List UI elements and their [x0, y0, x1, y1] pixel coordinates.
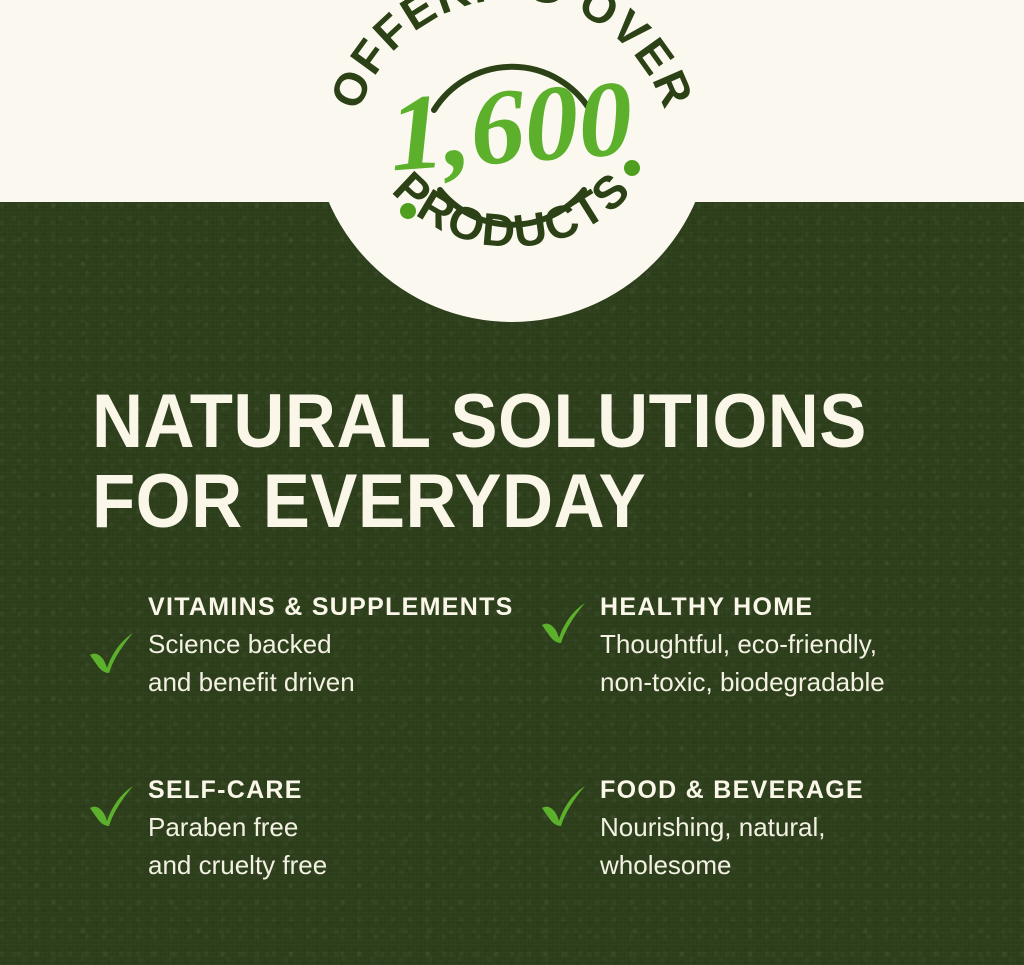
headline-line-2: FOR EVERYDAY [92, 462, 910, 542]
feature-desc-2: Paraben free and cruelty free [148, 808, 538, 884]
check-icon-wrapper-2 [86, 775, 148, 829]
feature-desc-1: Thoughtful, eco-friendly, non-toxic, bio… [600, 625, 986, 701]
feature-body-2: SELF-CARE Paraben free and cruelty free [148, 775, 538, 884]
offering-over-badge: OFFERING OVER PRODUCTS 1,600 [312, 0, 712, 322]
check-icon [538, 598, 590, 646]
check-icon [86, 628, 138, 676]
feature-item-self-care: SELF-CARE Paraben free and cruelty free [86, 775, 538, 884]
feature-item-healthy-home: HEALTHY HOME Thoughtful, eco-friendly, n… [538, 592, 986, 701]
feature-desc-0: Science backed and benefit driven [148, 625, 538, 701]
feature-title-2: SELF-CARE [148, 775, 538, 806]
feature-desc-line: Paraben free [148, 808, 538, 846]
feature-title-1: HEALTHY HOME [600, 592, 986, 623]
check-icon-wrapper-0 [86, 592, 148, 676]
feature-desc-line: wholesome [600, 846, 986, 884]
feature-desc-line: Science backed [148, 625, 538, 663]
feature-desc-line: and benefit driven [148, 663, 538, 701]
feature-title-0: VITAMINS & SUPPLEMENTS [148, 592, 538, 623]
page-title: NATURAL SOLUTIONS FOR EVERYDAY [92, 382, 910, 542]
headline-line-1: NATURAL SOLUTIONS [92, 382, 910, 462]
feature-title-3: FOOD & BEVERAGE [600, 775, 986, 806]
check-icon-wrapper-1 [538, 592, 600, 646]
feature-body-3: FOOD & BEVERAGE Nourishing, natural, who… [600, 775, 986, 884]
promo-poster: OFFERING OVER PRODUCTS 1,600 NATURAL SOL… [0, 0, 1024, 965]
check-icon [86, 781, 138, 829]
feature-list: VITAMINS & SUPPLEMENTS Science backed an… [86, 592, 986, 884]
feature-body-0: VITAMINS & SUPPLEMENTS Science backed an… [148, 592, 538, 701]
feature-item-food-beverage: FOOD & BEVERAGE Nourishing, natural, who… [538, 775, 986, 884]
check-icon [538, 781, 590, 829]
badge-product-count: 1,600 [386, 59, 637, 195]
feature-item-vitamins-supplements: VITAMINS & SUPPLEMENTS Science backed an… [86, 592, 538, 701]
feature-desc-3: Nourishing, natural, wholesome [600, 808, 986, 884]
dot-separator-left-icon [400, 203, 416, 219]
feature-desc-line: non-toxic, biodegradable [600, 663, 986, 701]
check-icon-wrapper-3 [538, 775, 600, 829]
feature-desc-line: Nourishing, natural, [600, 808, 986, 846]
feature-desc-line: Thoughtful, eco-friendly, [600, 625, 986, 663]
feature-body-1: HEALTHY HOME Thoughtful, eco-friendly, n… [600, 592, 986, 701]
feature-desc-line: and cruelty free [148, 846, 538, 884]
